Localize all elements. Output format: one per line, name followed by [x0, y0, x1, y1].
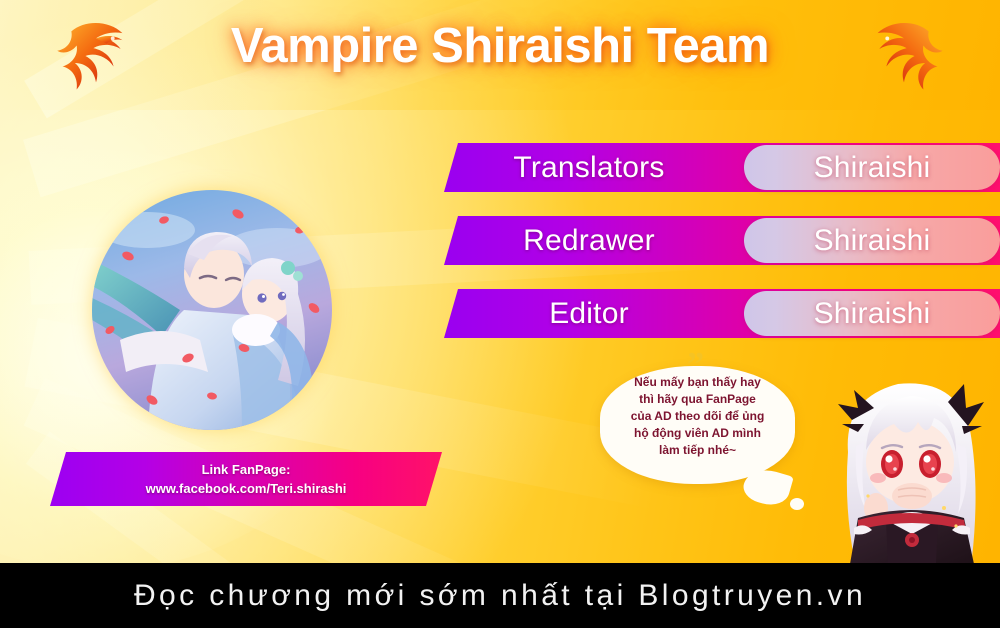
speech-bubble-text: Nếu mấy bạn thấy hay thì hãy qua FanPage… [600, 374, 795, 459]
page-title: Vampire Shiraishi Team [0, 18, 1000, 74]
credit-role-label: Editor [430, 289, 748, 338]
fanpage-label: Link FanPage: [202, 460, 291, 479]
credits-list: Translators Shiraishi Redrawer Shiraishi… [430, 143, 1000, 362]
banner-page: Vampire Shiraishi Team [0, 0, 1000, 628]
credit-role-label: Translators [430, 143, 748, 192]
credit-name-label: Shiraishi [744, 145, 1000, 190]
bubble-line: Nếu mấy bạn thấy hay [600, 374, 795, 391]
mascot-character [824, 368, 1000, 564]
speech-bubble-dot [790, 498, 804, 510]
quote-mark-icon: ” [687, 355, 704, 375]
footer-text: Đọc chương mới sớm nhất tại Blogtruyen.v… [134, 579, 866, 613]
avatar [92, 190, 332, 430]
credit-name-label: Shiraishi [744, 291, 1000, 336]
bubble-line: thì hãy qua FanPage [600, 391, 795, 408]
credit-row[interactable]: Translators Shiraishi [430, 143, 1000, 192]
fanpage-banner[interactable]: Link FanPage: www.facebook.com/Teri.shir… [50, 452, 442, 506]
fanpage-url[interactable]: www.facebook.com/Teri.shirashi [146, 479, 347, 498]
bubble-line: của AD theo dõi để ủng [600, 408, 795, 425]
credit-row[interactable]: Editor Shiraishi [430, 289, 1000, 338]
bubble-line: hộ động viên AD mình [600, 425, 795, 442]
footer-bar: Đọc chương mới sớm nhất tại Blogtruyen.v… [0, 563, 1000, 628]
phoenix-icon [856, 12, 952, 100]
bubble-line: làm tiếp nhé~ [600, 442, 795, 459]
credit-name-label: Shiraishi [744, 218, 1000, 263]
credit-role-label: Redrawer [430, 216, 748, 265]
header-band: Vampire Shiraishi Team [0, 0, 1000, 110]
credit-row[interactable]: Redrawer Shiraishi [430, 216, 1000, 265]
